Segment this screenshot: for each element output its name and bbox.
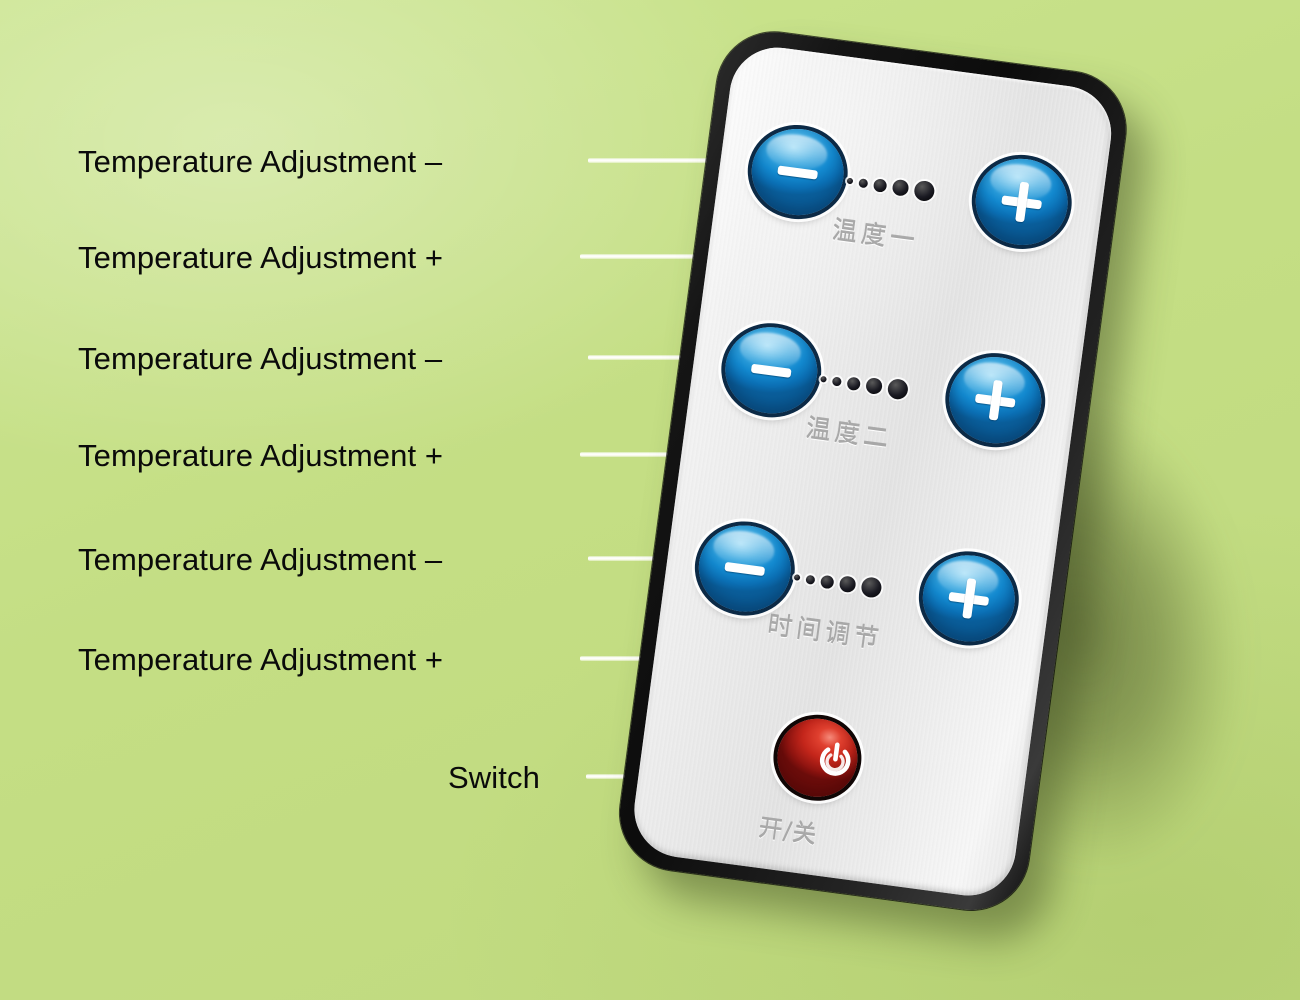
button-sheen [711, 527, 776, 569]
indicator-dot [892, 179, 910, 197]
callout-label-temp2-minus: Temperature Adjustment – [78, 343, 442, 374]
callout-label-temp1-plus: Temperature Adjustment + [78, 242, 443, 273]
minus-icon [777, 165, 818, 179]
indicator-dot [873, 178, 888, 193]
indicator-dot [820, 574, 835, 589]
indicator-dot [858, 178, 868, 188]
minus-icon [751, 363, 792, 377]
plus-icon [946, 576, 991, 621]
indicator-dot [820, 376, 827, 383]
indicator-dot [887, 378, 909, 400]
indicator-dot [805, 574, 815, 584]
remote-faceplate: 温度一 [628, 42, 1117, 902]
button-sheen [738, 329, 803, 371]
indicator-dot [860, 576, 882, 598]
button-sheen [776, 739, 815, 772]
callout-label-temp1-minus: Temperature Adjustment – [78, 146, 442, 177]
callout-label-time-plus: Temperature Adjustment + [78, 644, 443, 675]
power-icon [811, 735, 860, 784]
callout-label-switch: Switch [448, 762, 540, 793]
annotated-product-diagram: Temperature Adjustment – Temperature Adj… [0, 0, 1300, 1000]
indicator-dot [832, 376, 842, 386]
remote-bezel: 温度一 [613, 25, 1133, 917]
callout-label-temp2-plus: Temperature Adjustment + [78, 440, 443, 471]
button-sheen [764, 131, 829, 173]
indicator-dot [847, 178, 854, 185]
callout-label-time-minus: Temperature Adjustment – [78, 544, 442, 575]
minus-icon [724, 561, 765, 575]
indicator-dot [794, 574, 801, 581]
plus-icon [999, 179, 1044, 224]
plus-icon [973, 378, 1018, 423]
indicator-dot [865, 377, 883, 395]
indicator-dot [913, 180, 935, 202]
indicator-dot [846, 376, 861, 391]
indicator-dot [839, 575, 857, 593]
